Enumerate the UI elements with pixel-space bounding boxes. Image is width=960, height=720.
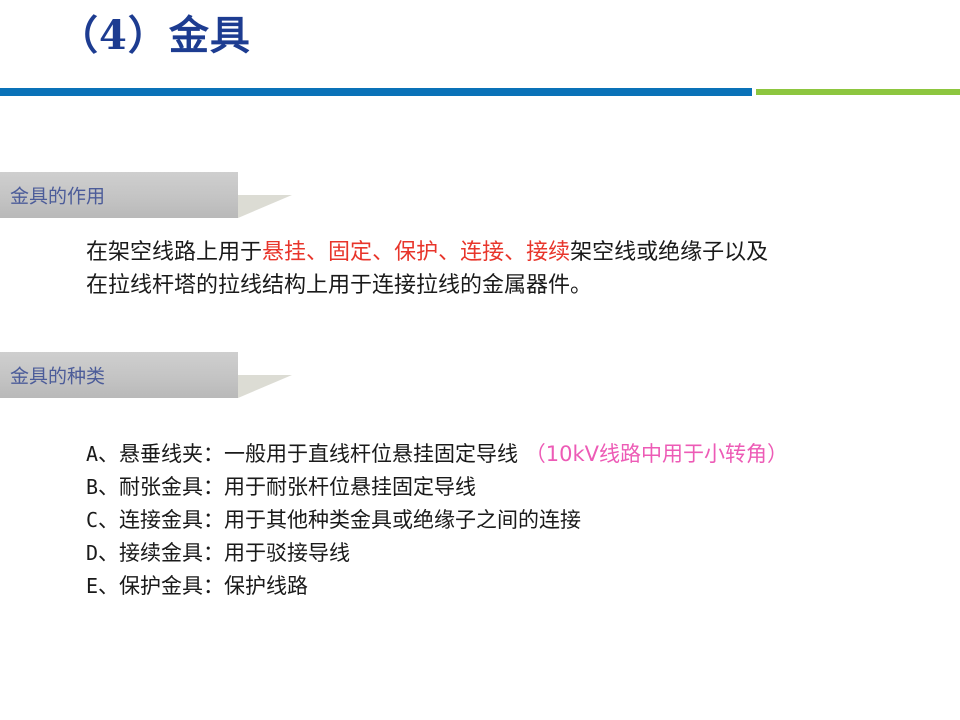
paragraph-lead: 在架空线路上用于 — [86, 240, 262, 265]
list-item-colon: ： — [203, 508, 224, 532]
list-item: C、连接金具：用于其他种类金具或绝缘子之间的连接 — [86, 504, 956, 537]
list-item-term: 保护金具 — [119, 574, 203, 598]
list-item-key: B — [86, 475, 98, 499]
header-rule-green — [756, 89, 960, 95]
list-item-space — [518, 442, 525, 466]
slide-canvas: （4）金具 金具的作用 在架空线路上用于悬挂、固定、保护、连接、接续架空线或绝缘… — [0, 0, 960, 720]
section-banner-kinds: 金具的种类 — [0, 352, 238, 398]
section-banner-kinds-label: 金具的种类 — [10, 362, 105, 389]
list-item-separator: 、 — [98, 475, 119, 499]
banner-arrow-icon — [238, 195, 292, 218]
paragraph-highlight-separator: 、 — [372, 240, 394, 265]
list-item-key: E — [86, 574, 98, 598]
list-item-note: （10kV线路中用于小转角） — [525, 442, 788, 466]
paragraph-highlight: 连接 — [460, 240, 504, 265]
list-item-key: C — [86, 508, 98, 532]
paragraph-highlight: 悬挂 — [262, 240, 306, 265]
banner-arrow-icon — [238, 375, 292, 398]
list-item-description: 用于其他种类金具或绝缘子之间的连接 — [224, 508, 581, 532]
header-rule-blue — [0, 88, 752, 96]
section-banner-use: 金具的作用 — [0, 172, 238, 218]
list-item-separator: 、 — [98, 442, 119, 466]
list-item-colon: ： — [203, 442, 224, 466]
list-item-key: A — [86, 442, 98, 466]
section-banner-use-label: 金具的作用 — [10, 182, 105, 209]
use-paragraph: 在架空线路上用于悬挂、固定、保护、连接、接续架空线或绝缘子以及在拉线杆塔的拉线结… — [86, 236, 776, 302]
paragraph-highlight-separator: 、 — [504, 240, 526, 265]
list-item-key: D — [86, 541, 98, 565]
list-item: B、耐张金具：用于耐张杆位悬挂固定导线 — [86, 471, 956, 504]
list-item-description: 保护线路 — [224, 574, 308, 598]
list-item-colon: ： — [203, 574, 224, 598]
list-item-colon: ： — [203, 541, 224, 565]
paragraph-highlight-separator: 、 — [438, 240, 460, 265]
list-item-term: 悬垂线夹 — [119, 442, 203, 466]
list-item-description: 用于驳接导线 — [224, 541, 350, 565]
list-item-term: 连接金具 — [119, 508, 203, 532]
list-item-colon: ： — [203, 475, 224, 499]
list-item-description: 一般用于直线杆位悬挂固定导线 — [224, 442, 518, 466]
list-item-separator: 、 — [98, 541, 119, 565]
list-item-separator: 、 — [98, 574, 119, 598]
paragraph-highlight-separator: 、 — [306, 240, 328, 265]
list-item: D、接续金具：用于驳接导线 — [86, 537, 956, 570]
kinds-list: A、悬垂线夹：一般用于直线杆位悬挂固定导线 （10kV线路中用于小转角）B、耐张… — [86, 438, 956, 603]
page-title: （4）金具 — [58, 12, 251, 60]
list-item-separator: 、 — [98, 508, 119, 532]
paragraph-highlight: 接续 — [526, 240, 570, 265]
list-item-term: 接续金具 — [119, 541, 203, 565]
list-item: E、保护金具：保护线路 — [86, 570, 956, 603]
list-item-term: 耐张金具 — [119, 475, 203, 499]
paragraph-highlight: 保护 — [394, 240, 438, 265]
list-item: A、悬垂线夹：一般用于直线杆位悬挂固定导线 （10kV线路中用于小转角） — [86, 438, 956, 471]
paragraph-highlight: 固定 — [328, 240, 372, 265]
list-item-description: 用于耐张杆位悬挂固定导线 — [224, 475, 476, 499]
